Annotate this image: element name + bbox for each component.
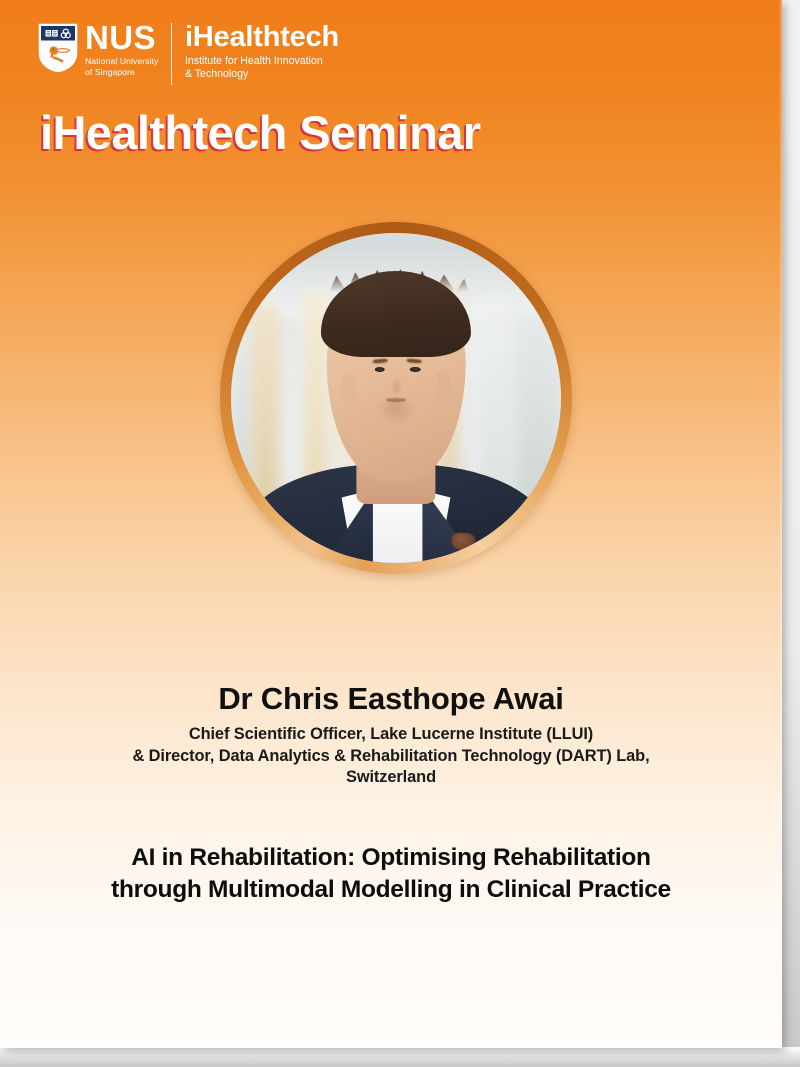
nus-crest-icon [38,23,78,73]
speaker-affiliation-line2: & Director, Data Analytics & Rehabilitat… [30,746,752,768]
talk-title: AI in Rehabilitation: Optimising Rehabil… [26,842,756,906]
ihealthtech-tagline-line2: & Technology [185,68,339,81]
seminar-poster: NUS National University of Singapore iHe… [0,0,782,1048]
nus-fullname-line2: of Singapore [85,67,159,78]
speaker-affiliation-line1: Chief Scientific Officer, Lake Lucerne I… [30,724,752,746]
brand-lockup: NUS National University of Singapore iHe… [38,22,339,88]
speaker-affiliation-line3: Switzerland [30,767,752,789]
event-title: iHealthtech Seminar [40,106,480,160]
sheet-edge-highlight [779,0,782,1048]
nus-fullname-line1: National University [85,56,159,67]
speaker-portrait [231,233,561,563]
speaker-name: Dr Chris Easthope Awai [0,681,782,717]
lockup-divider [171,23,172,85]
nus-abbreviation: NUS [85,22,159,53]
ihealthtech-name: iHealthtech [185,22,339,52]
portrait-figure [231,233,561,563]
talk-title-line1: AI in Rehabilitation: Optimising Rehabil… [26,842,756,874]
speaker-affiliation: Chief Scientific Officer, Lake Lucerne I… [30,724,752,789]
portrait-ring [220,222,572,574]
ihealthtech-text-block: iHealthtech Institute for Health Innovat… [185,22,339,82]
ihealthtech-tagline-line1: Institute for Health Innovation [185,55,339,68]
talk-title-line2: through Multimodal Modelling in Clinical… [26,874,756,906]
page-backdrop-right [780,0,800,1067]
page-backdrop-bottom [0,1047,800,1067]
nus-text-block: NUS National University of Singapore [85,22,159,77]
